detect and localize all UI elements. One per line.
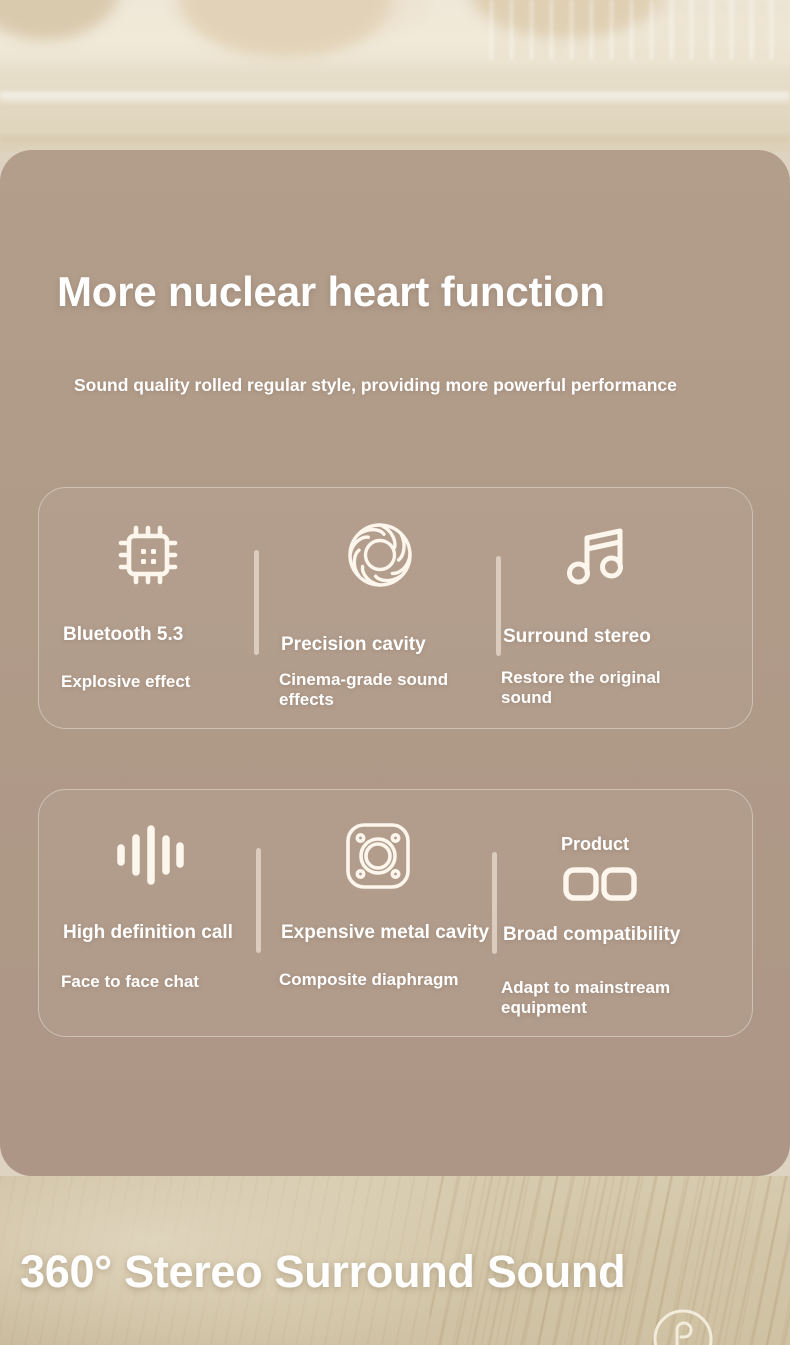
feature-column: Bluetooth 5.3 Explosive effect <box>61 488 276 728</box>
feature-subtitle: Explosive effect <box>61 672 271 692</box>
feature-subtitle: Face to face chat <box>61 972 271 992</box>
sound-wave-icon <box>109 816 193 894</box>
chip-icon <box>109 516 187 594</box>
feature-title: Broad compatibility <box>503 924 680 946</box>
feature-card-top: Bluetooth 5.3 Explosive effect <box>38 487 753 729</box>
feature-subtitle: Composite diaphragm <box>279 970 509 990</box>
aperture-icon <box>339 514 421 596</box>
photo-slats-texture <box>490 0 790 60</box>
feature-card-bottom: High definition call Face to face chat <box>38 789 753 1037</box>
page-subtitle: Sound quality rolled regular style, prov… <box>74 374 704 397</box>
earbuds-icon <box>559 864 645 904</box>
feature-title: High definition call <box>63 922 233 944</box>
bottom-section-title: 360° Stereo Surround Sound <box>20 1246 625 1298</box>
feature-title: Bluetooth 5.3 <box>63 624 183 646</box>
page-title: More nuclear heart function <box>57 268 605 316</box>
photo-shelf-highlight <box>0 92 790 105</box>
music-note-icon <box>561 516 641 596</box>
photo-shelf-shadow <box>0 136 790 146</box>
feature-subtitle: Cinema-grade sound effects <box>279 670 484 711</box>
icon-caption: Product <box>561 834 629 855</box>
feature-column: Precision cavity Cinema-grade sound effe… <box>279 488 494 728</box>
feature-column: Expensive metal cavity Composite diaphra… <box>279 790 494 1036</box>
feature-title: Surround stereo <box>503 626 651 648</box>
circle-p-logo-icon <box>652 1308 714 1345</box>
feature-subtitle: Adapt to mainstream equipment <box>501 978 719 1019</box>
feature-title: Precision cavity <box>281 634 426 656</box>
product-feature-page: More nuclear heart function Sound qualit… <box>0 0 790 1345</box>
feature-title: Expensive metal cavity <box>281 922 489 944</box>
product-photo-background <box>0 0 790 152</box>
feature-subtitle: Restore the original sound <box>501 668 716 709</box>
feature-column: Product Broad compatibility Adapt to mai… <box>501 790 741 1036</box>
feature-column: High definition call Face to face chat <box>61 790 276 1036</box>
photo-blur-blob <box>0 0 120 40</box>
feature-column: Surround stereo Restore the original sou… <box>501 488 741 728</box>
photo-blur-blob <box>180 0 390 58</box>
speaker-driver-icon <box>337 812 419 898</box>
